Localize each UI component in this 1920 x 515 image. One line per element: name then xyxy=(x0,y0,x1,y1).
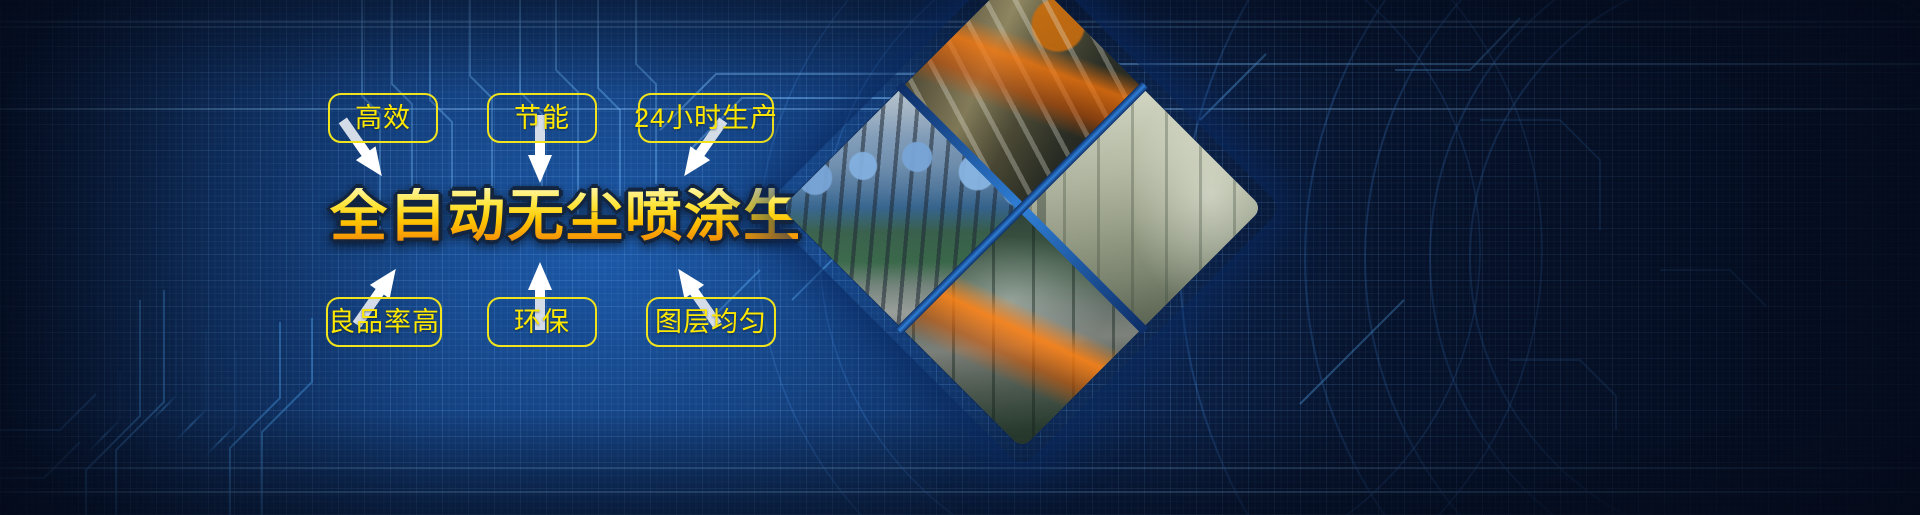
feature-badge-24h-production[interactable]: 24小时生产 xyxy=(638,93,774,143)
feature-badge-high-efficiency[interactable]: 高效 xyxy=(328,93,438,143)
promo-banner: 高效 节能 24小时生产 全自动无尘喷涂生产线 良品率高 环保 图层均匀 xyxy=(0,0,1920,515)
feature-badge-high-yield[interactable]: 良品率高 xyxy=(326,297,442,347)
arrow-group xyxy=(0,0,860,515)
page-title: 全自动无尘喷涂生产线 xyxy=(330,188,800,245)
feature-badge-energy-saving[interactable]: 节能 xyxy=(487,93,597,143)
feature-badge-eco-friendly[interactable]: 环保 xyxy=(487,297,597,347)
feature-cluster: 高效 节能 24小时生产 全自动无尘喷涂生产线 良品率高 环保 图层均匀 xyxy=(0,0,860,515)
feature-badge-uniform-coating[interactable]: 图层均匀 xyxy=(646,297,776,347)
